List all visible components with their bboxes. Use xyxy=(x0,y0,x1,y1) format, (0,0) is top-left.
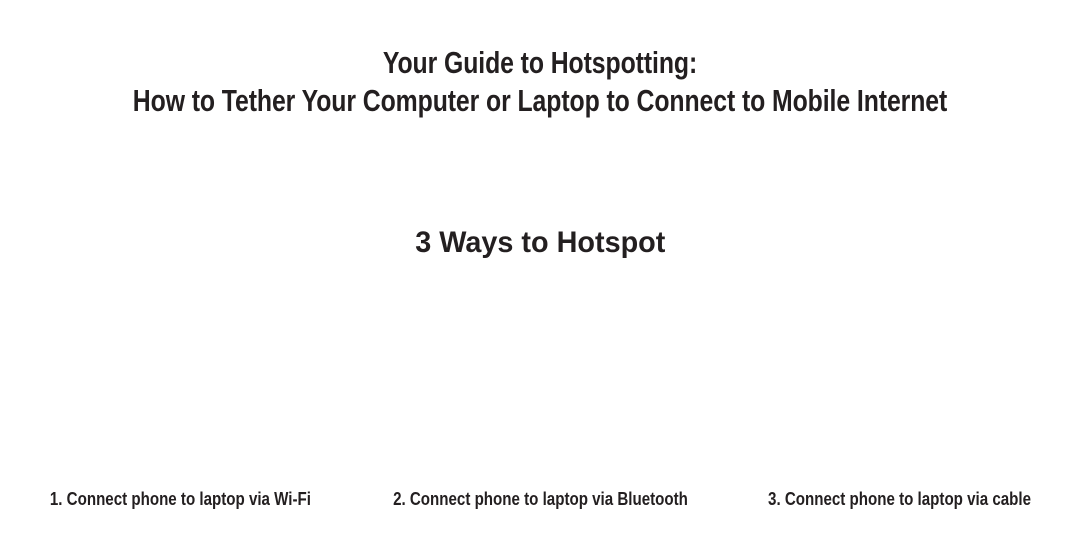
section-heading: 3 Ways to Hotspot xyxy=(0,224,1080,262)
method-caption-bluetooth: 2. Connect phone to laptop via Bluetooth xyxy=(393,487,688,511)
section-heading-text: 3 Ways to Hotspot xyxy=(415,224,665,262)
illustration-slot-cable xyxy=(720,280,1080,475)
page-title-line-1: Your Guide to Hotspotting: xyxy=(108,44,972,82)
illustration-slot-bluetooth xyxy=(360,280,720,475)
method-caption-cable: 3. Connect phone to laptop via cable xyxy=(769,487,1032,511)
method-item-wifi: 1. Connect phone to laptop via Wi-Fi xyxy=(0,487,360,511)
page-title-line-2: How to Tether Your Computer or Laptop to… xyxy=(108,82,972,120)
illustration-slot-wifi xyxy=(0,280,360,475)
page-title: Your Guide to Hotspotting: How to Tether… xyxy=(0,44,1080,120)
method-item-bluetooth: 2. Connect phone to laptop via Bluetooth xyxy=(360,487,720,511)
infographic-page: Your Guide to Hotspotting: How to Tether… xyxy=(0,0,1080,552)
method-item-cable: 3. Connect phone to laptop via cable xyxy=(720,487,1080,511)
method-captions-row: 1. Connect phone to laptop via Wi-Fi 2. … xyxy=(0,487,1080,511)
illustration-area xyxy=(0,280,1080,475)
method-caption-wifi: 1. Connect phone to laptop via Wi-Fi xyxy=(49,487,310,511)
